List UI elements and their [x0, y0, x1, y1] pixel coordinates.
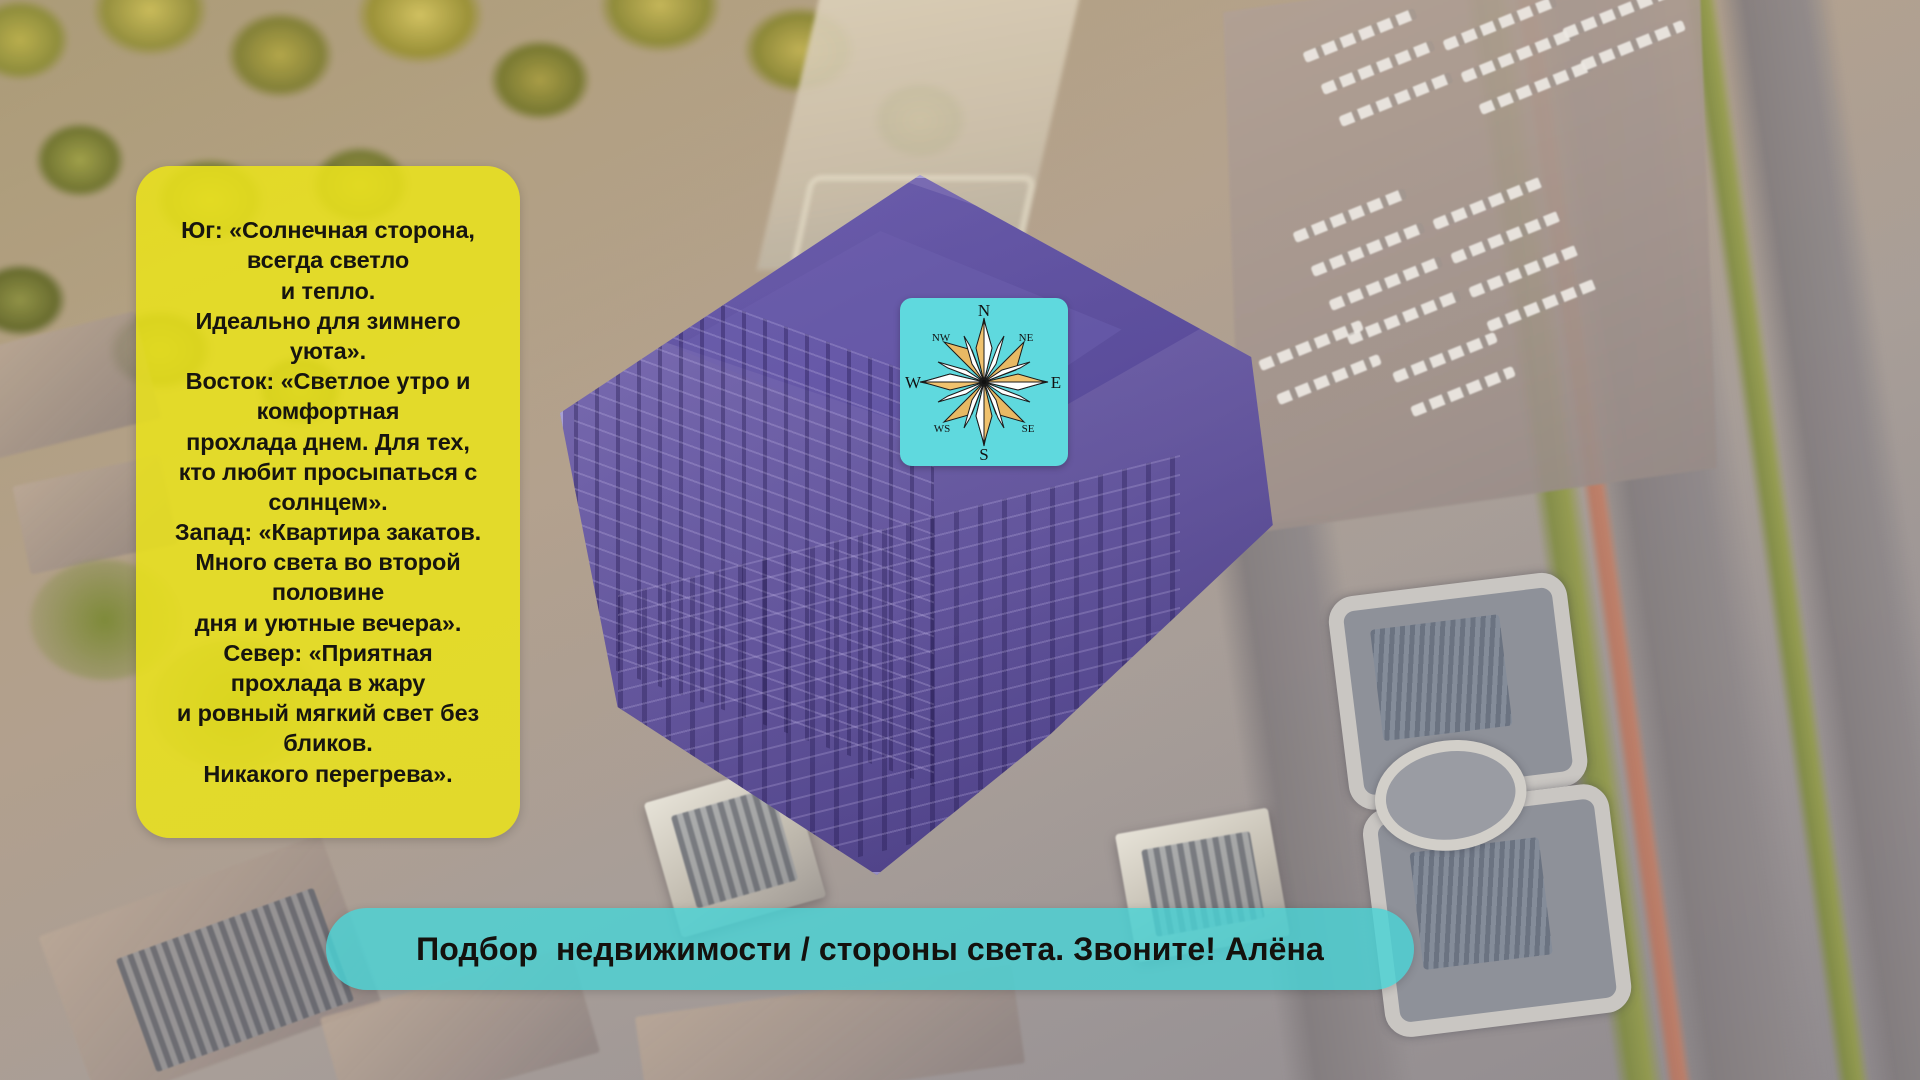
building-outline [560, 175, 1280, 875]
orientation-info-text: Юг: «Солнечная сторона, всегда светло и … [175, 215, 481, 789]
compass-label-w: W [905, 373, 922, 392]
roof-panel [1409, 837, 1552, 970]
poster-canvas: Юг: «Солнечная сторона, всегда светло и … [0, 0, 1920, 1080]
compass-rose-icon: N NE E SE S WS W NW [900, 298, 1068, 466]
compass-label-se: SE [1022, 423, 1035, 435]
compass-label-nw: NW [932, 332, 951, 344]
highlighted-building [560, 175, 1280, 875]
compass-label-ws: WS [934, 423, 951, 435]
compass-label-ne: NE [1019, 332, 1034, 344]
compass-center-dot [982, 380, 986, 384]
orientation-info-card: Юг: «Солнечная сторона, всегда светло и … [136, 166, 520, 838]
compass-rose-card: N NE E SE S WS W NW [900, 298, 1068, 466]
compass-label-s: S [979, 445, 988, 464]
roof-panel [1370, 614, 1513, 741]
call-to-action-banner[interactable]: Подбор недвижимости / стороны света. Зво… [326, 908, 1414, 990]
call-to-action-text: Подбор недвижимости / стороны света. Зво… [416, 931, 1324, 968]
compass-label-n: N [978, 301, 990, 320]
compass-label-e: E [1051, 373, 1061, 392]
